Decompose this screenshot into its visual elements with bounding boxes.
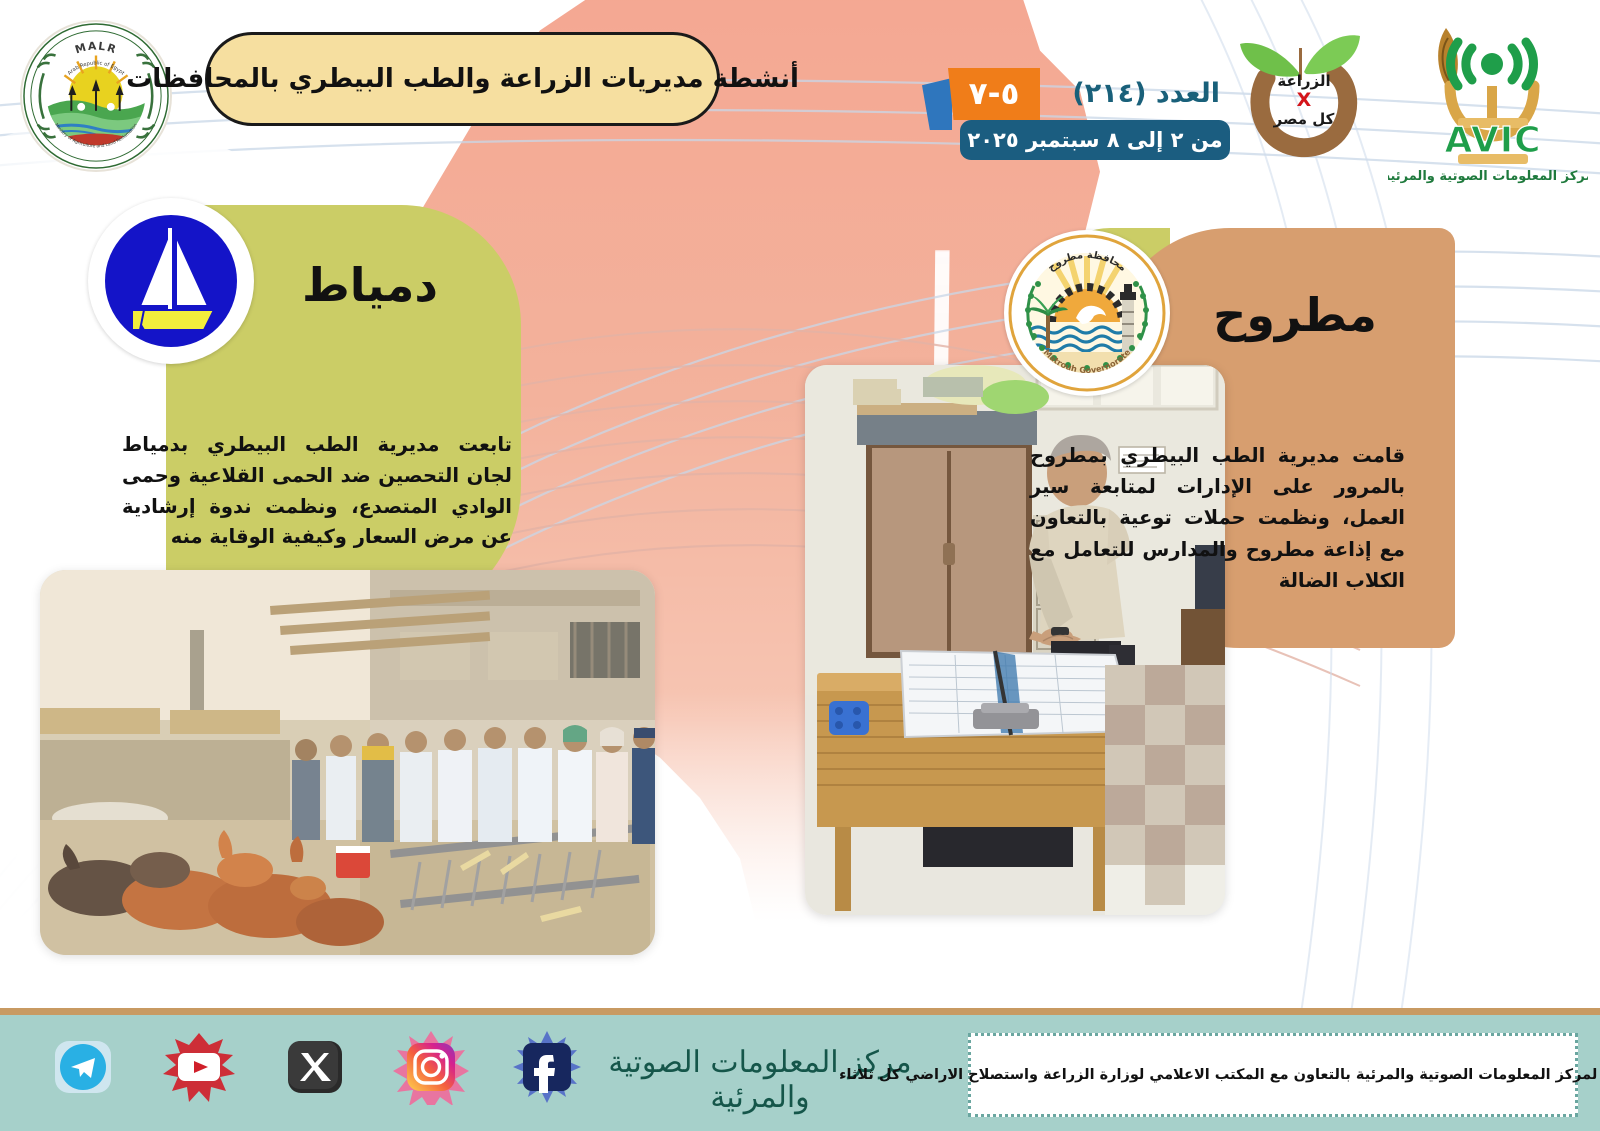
- avic-logo-text: AVIC: [1444, 120, 1541, 161]
- damietta-title: دمياط: [255, 258, 485, 312]
- page-title: أنشطة مديريات الزراعة والطب البيطري بالم…: [126, 64, 799, 94]
- damietta-body-text: تابعت مديرية الطب البيطري بدمياط لجان ال…: [122, 430, 512, 553]
- issue-date-pill: من ٢ إلى ٨ سبتمبر ٢٠٢٥: [960, 120, 1230, 160]
- issue-chip-tab: [922, 78, 952, 130]
- issue-range-chip: ٥-٧: [948, 68, 1040, 120]
- social-links: [45, 1029, 585, 1105]
- avic-logo: AVIC مركز المعلومات الصوتية والمرئية: [1388, 8, 1588, 188]
- matrouh-title: مطروح: [1180, 288, 1410, 342]
- malr-logo: MALR Arab Republic of Egypt Ministry of …: [22, 22, 170, 170]
- x-twitter-icon[interactable]: [277, 1029, 353, 1105]
- damietta-governorate-emblem: [88, 198, 254, 364]
- poster-footer: مركز المعلومات الصوتية والمرئية اصدار اس…: [0, 1008, 1600, 1131]
- instagram-icon[interactable]: [393, 1029, 469, 1105]
- telegram-icon[interactable]: [45, 1029, 121, 1105]
- avic-logo-caption: مركز المعلومات الصوتية والمرئية: [1388, 169, 1588, 184]
- poster-title-pill: أنشطة مديريات الزراعة والطب البيطري بالم…: [205, 32, 720, 126]
- youtube-icon[interactable]: [161, 1029, 237, 1105]
- zeraa-logo-line1: الزراعة: [1277, 72, 1330, 90]
- poster-root: MALR Arab Republic of Egypt Ministry of …: [0, 0, 1600, 1131]
- issue-number-label: العدد (٢١٤): [1072, 78, 1220, 109]
- poster-header: MALR Arab Republic of Egypt Ministry of …: [0, 0, 1600, 180]
- footer-note-text: اصدار اسبوعي لمركز المعلومات الصوتية وال…: [839, 1067, 1600, 1083]
- zeraa-logo-x: X: [1297, 89, 1312, 111]
- matrouh-governorate-emblem: محافظة مطروح Matrouh Governorate: [1004, 230, 1170, 396]
- zeraa-logo-line2: كل مصر: [1273, 110, 1335, 128]
- zeraa-kol-masr-logo: الزراعة X كل مصر: [1220, 14, 1380, 164]
- footer-note-box: اصدار اسبوعي لمركز المعلومات الصوتية وال…: [968, 1033, 1578, 1117]
- damietta-photo: [40, 570, 655, 955]
- matrouh-body-text: قامت مديرية الطب البيطري بمطروح بالمرور …: [1030, 440, 1405, 596]
